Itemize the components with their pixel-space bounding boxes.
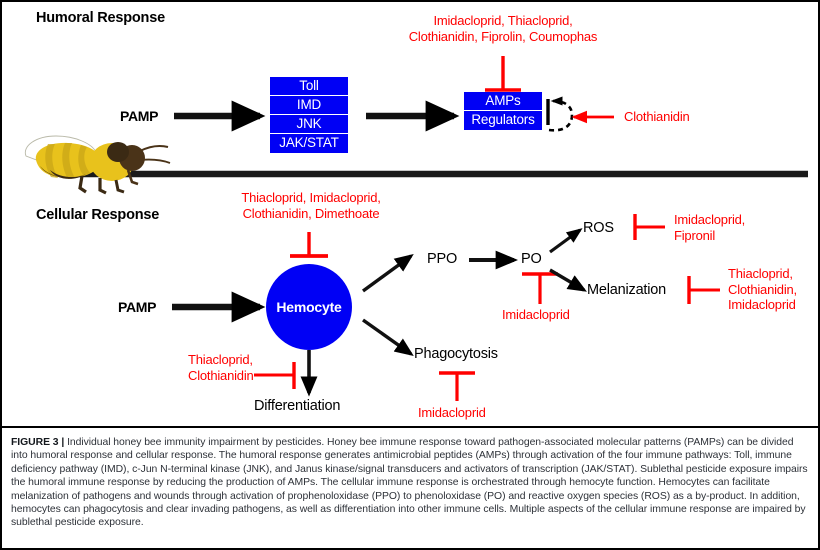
- figure-caption: FIGURE 3 | Individual honey bee immunity…: [2, 426, 818, 548]
- figure-container: Humoral Response PAMP Toll IMD JNK JAK/S…: [0, 0, 820, 550]
- differentiation-inhibitor-line-2: Clothianidin: [188, 368, 268, 384]
- caption-figure-label: FIGURE 3 |: [11, 437, 64, 448]
- hemocyte-inhibitor-line-1: Thiacloprid, Imidacloprid,: [207, 190, 415, 206]
- amp-box-regulators[interactable]: Regulators: [464, 111, 542, 130]
- inhibition-po: [522, 274, 558, 304]
- ros-inhibitor-line-1: Imidacloprid,: [674, 212, 794, 228]
- po-label: PO: [521, 251, 542, 267]
- pathway-box-jak-stat[interactable]: JAK/STAT: [270, 134, 348, 153]
- inhibition-phagocytosis: [439, 373, 475, 401]
- melanization-inhibitor-list: Thiacloprid, Clothianidin, Imidacloprid: [728, 266, 818, 313]
- ros-inhibitor-line-2: Fipronil: [674, 228, 794, 244]
- pathway-box-jnk[interactable]: JNK: [270, 115, 348, 134]
- differentiation-inhibitor-line-1: Thiacloprid,: [188, 352, 268, 368]
- humoral-inhibitor-line-2: Clothianidin, Fiprolin, Coumophas: [397, 29, 609, 45]
- pathway-box-toll[interactable]: Toll: [270, 77, 348, 96]
- ros-inhibitor-list: Imidacloprid, Fipronil: [674, 212, 794, 243]
- regulator-feedback-loop: [548, 99, 572, 130]
- pathway-box-imd[interactable]: IMD: [270, 96, 348, 115]
- differentiation-inhibitor-list: Thiacloprid, Clothianidin: [188, 352, 268, 383]
- ppo-label: PPO: [427, 251, 457, 267]
- caption-body: Individual honey bee immunity impairment…: [11, 437, 808, 528]
- hemocyte-node[interactable]: Hemocyte: [266, 264, 352, 350]
- phagocytosis-label: Phagocytosis: [414, 346, 498, 362]
- inhibition-amps: [485, 56, 521, 90]
- ros-label: ROS: [583, 220, 614, 236]
- differentiation-label: Differentiation: [254, 398, 340, 414]
- cellular-section-title: Cellular Response: [36, 207, 159, 223]
- cellular-pamp-label: PAMP: [118, 299, 156, 315]
- inhibition-hemocyte: [290, 232, 328, 256]
- arrow-hemocyte-to-ppo: [363, 256, 411, 291]
- humoral-inhibitor-list: Imidacloprid, Thiacloprid, Clothianidin,…: [397, 13, 609, 44]
- humoral-pamp-label: PAMP: [120, 108, 158, 124]
- melanization-label: Melanization: [587, 282, 666, 298]
- hemocyte-inhibitor-list: Thiacloprid, Imidacloprid, Clothianidin,…: [207, 190, 415, 221]
- arrow-po-to-melanization: [550, 270, 584, 290]
- diagram-area: Humoral Response PAMP Toll IMD JNK JAK/S…: [2, 2, 818, 426]
- amp-box-amps[interactable]: AMPs: [464, 92, 542, 111]
- po-inhibitor-label: Imidacloprid: [502, 307, 602, 323]
- melanization-inhibitor-line-2: Clothianidin,: [728, 282, 818, 298]
- arrow-hemocyte-to-phagocytosis: [363, 320, 411, 354]
- melanization-inhibitor-line-3: Imidacloprid: [728, 297, 818, 313]
- inhibition-ros: [635, 214, 665, 240]
- melanization-inhibitor-line-1: Thiacloprid,: [728, 266, 818, 282]
- humoral-section-title: Humoral Response: [36, 10, 165, 26]
- inhibition-melanization: [689, 276, 720, 304]
- humoral-inhibitor-line-1: Imidacloprid, Thiacloprid,: [397, 13, 609, 29]
- humoral-activator-clothianidin: Clothianidin: [624, 109, 764, 125]
- hemocyte-inhibitor-line-2: Clothianidin, Dimethoate: [207, 206, 415, 222]
- phagocytosis-inhibitor-label: Imidacloprid: [418, 405, 528, 421]
- arrow-po-to-ros: [550, 230, 580, 252]
- honey-bee-icon: [25, 136, 170, 193]
- caption-paragraph: FIGURE 3 | Individual honey bee immunity…: [11, 436, 809, 530]
